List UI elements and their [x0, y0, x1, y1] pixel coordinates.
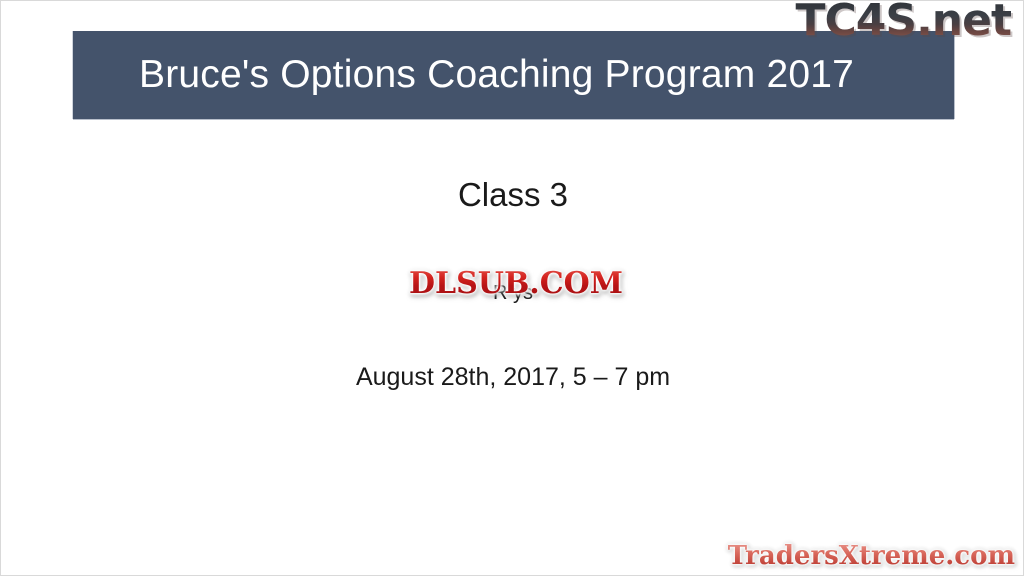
tradersxtreme-watermark: TradersXtreme.com	[728, 543, 1015, 569]
slide-title: Bruce's Options Coaching Program 2017	[139, 55, 854, 96]
session-topic-label: R ys	[1, 282, 1024, 305]
presentation-slide: Bruce's Options Coaching Program 2017 Cl…	[0, 0, 1024, 576]
session-datetime-label: August 28th, 2017, 5 – 7 pm	[1, 363, 1024, 392]
slide-title-banner: Bruce's Options Coaching Program 2017	[73, 31, 954, 119]
class-number-label: Class 3	[1, 176, 1024, 214]
